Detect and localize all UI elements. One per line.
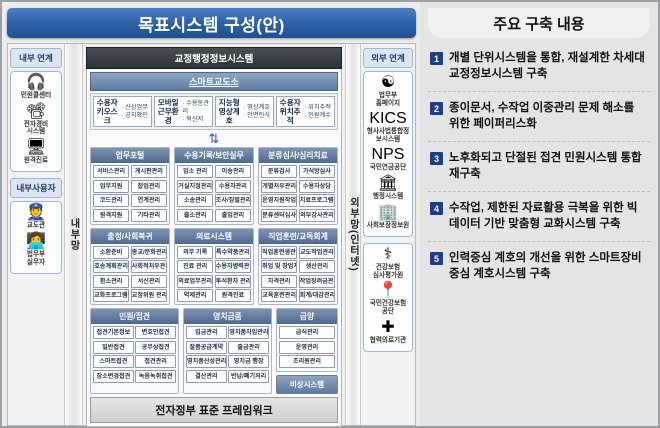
admin-system-icon: 🏛 <box>378 176 398 192</box>
module-item[interactable]: 소송관리 <box>177 194 213 207</box>
summary-item: 5 인력중심 계호의 개선을 위한 스마트장비 중심 계호시스템 구축 <box>428 250 650 291</box>
module-item[interactable]: 작업장려금관리 <box>299 275 335 288</box>
module-item[interactable]: 수용자상담 <box>299 180 335 193</box>
module-title: 의료시스템 <box>175 229 253 244</box>
smart-prison-cell-key: 지능형영상계호 <box>217 98 241 125</box>
module-item[interactable]: 회계/대감관리 <box>299 289 335 302</box>
list-item-label: 민원콜센터 <box>21 92 51 100</box>
list-item-label: 국민건강보험공단 <box>370 300 406 315</box>
smart-prison-title: 스마트교도소 <box>90 72 338 91</box>
external-link-caption: 외부 연계 <box>363 48 413 68</box>
module-title: 수용기록/보안실무 <box>175 148 253 163</box>
module-item[interactable]: 스마트접견 <box>93 355 134 368</box>
ministry-staff-icon: 👩‍💻 <box>26 234 46 250</box>
module-item[interactable]: 변호인접견 <box>135 326 176 339</box>
module-item[interactable]: 입소 관리 <box>177 165 213 178</box>
module-items: 소환준비종교/문화관리호송계획관리사회적처우관리환소관리서신관리교화프로그램관리… <box>91 244 169 305</box>
module-item[interactable]: 조리원관리 <box>279 355 335 368</box>
module-item[interactable]: 영치품차입관리 <box>228 326 269 339</box>
module-item[interactable]: 업무지원 <box>93 180 129 193</box>
module-item[interactable]: 녹음녹취접견 <box>135 370 176 383</box>
module-card[interactable]: 분류심사/심리치료 분류검사가석방심사개별처우관리수용자상담운영지원작업치료프로… <box>258 147 338 225</box>
module-items: 서비스관리게시판관리업무지원잡업관리코드관리연계관리원격지원기타관리 <box>91 163 169 224</box>
module-item[interactable]: 직업훈련생관리 <box>261 246 297 259</box>
partner-hospital-icon: ✚ <box>381 320 394 336</box>
module-item[interactable]: 원격지원 <box>93 209 129 222</box>
module-item[interactable]: 운영지원작업 <box>261 194 297 207</box>
ministry-of-justice-icon: ☯ <box>381 75 395 91</box>
summary-item-number: 3 <box>430 152 443 165</box>
module-row: 민원/접견 접견기본정보변호인접견일반접견공무상접견스마트접견접견관리장소변경접… <box>90 308 338 394</box>
module-item[interactable]: 조사/징벌관리 <box>215 194 251 207</box>
module-item[interactable]: 환소관리 <box>93 275 129 288</box>
external-group-a: ☯ 법무부홈페이지 KICS 형사사법통합정보시스템 NPS 국민연금공단 🏛 … <box>363 71 413 237</box>
module-item[interactable]: 연계관리 <box>131 194 167 207</box>
summary-item-number: 2 <box>430 102 443 115</box>
national-pension-icon: NPS <box>372 147 405 163</box>
summary-item-text: 수작업, 제한된 자료활용 극복을 위한 빅데이터 기반 맞춤형 교화시스템 구… <box>449 200 648 232</box>
list-item[interactable]: 📽 전자경비시스템 <box>12 104 60 136</box>
core-title: 교정행정정보시스템 <box>86 47 342 69</box>
module-item[interactable]: 의무 기록 <box>177 246 213 259</box>
module-card[interactable]: 업무포털 서비스관리게시판관리업무지원잡업관리코드관리연계관리원격지원기타관리 <box>90 147 170 225</box>
module-item[interactable]: 가석방심사 <box>299 165 335 178</box>
module-item[interactable]: 자격관리 <box>261 275 297 288</box>
module-title: 출정/사회복귀 <box>91 229 169 244</box>
slide-root: 목표시스템 구성(안) 내부 연계 🎧 민원콜센터 📽 전자경비시스템 🖥 원격… <box>0 0 660 428</box>
module-item[interactable]: 이송관리 <box>215 165 251 178</box>
nhis-icon: 📍 <box>378 283 398 299</box>
list-item-label: 법무부홈페이지 <box>376 92 400 107</box>
module-grid: 업무포털 서비스관리게시판관리업무지원잡업관리코드관리연계관리원격지원기타관리 … <box>90 147 338 394</box>
internal-link-box: 🎧 민원콜센터 📽 전자경비시스템 🖥 원격진료 <box>10 71 62 172</box>
module-item[interactable]: 분류검사 <box>261 165 297 178</box>
list-item[interactable]: 👩‍💻 법무부실무자 <box>12 234 60 266</box>
module-title: 직업훈련/교독회계 <box>259 229 337 244</box>
module-item[interactable]: 잘품공급계약 <box>186 341 227 354</box>
external-network-label: 외부망(인터넷) <box>346 197 361 272</box>
internal-rail: 내부 연계 🎧 민원콜센터 📽 전자경비시스템 🖥 원격진료 내부사용자 👮 교… <box>8 44 64 425</box>
list-item[interactable]: NPS 국민연금공단 <box>365 147 411 172</box>
summary-item: 2 종이문서, 수작업 이중관리 문제 해소를 위한 페이퍼리스화 <box>428 100 650 142</box>
module-item[interactable]: 서비스관리 <box>93 165 129 178</box>
module-row: 출정/사회복귀 소환준비종교/문화관리호송계획관리사회적처우관리환소관리서신관리… <box>90 228 338 306</box>
diagram-panel: 목표시스템 구성(안) 내부 연계 🎧 민원콜센터 📽 전자경비시스템 🖥 원격… <box>2 2 420 426</box>
smart-prison-cell-key: 수용자위치추적 <box>278 98 302 125</box>
list-item[interactable]: ⚕ 건강보험심사평가원 <box>365 247 411 279</box>
summary-item-text: 노후화되고 단절된 접견 민원시스템 통합 재구축 <box>449 150 648 182</box>
list-item-label: 법무부실무자 <box>27 251 45 266</box>
module-item[interactable]: 게시판관리 <box>131 165 167 178</box>
module-title: 영치금품 <box>184 309 271 324</box>
module-card[interactable]: 민원/접견 접견기본정보변호인접견일반접견공무상접견스마트접견접견관리장소변경접… <box>90 308 179 394</box>
list-item-label: 협력의료기관 <box>370 337 406 345</box>
module-item[interactable]: 영치금 행장 <box>228 355 269 368</box>
summary-item-number: 5 <box>430 252 443 265</box>
module-item[interactable]: 운영관리 <box>279 341 335 354</box>
list-item[interactable]: 🏢 사회보장정보원 <box>365 205 411 230</box>
list-item[interactable]: ✚ 협력의료기관 <box>365 320 411 345</box>
module-item[interactable]: 개별처우관리 <box>261 180 297 193</box>
module-item[interactable]: 수용자병력관리 <box>215 260 251 273</box>
internal-network-label: 내부망 <box>66 218 81 251</box>
internal-link-caption: 내부 연계 <box>10 48 62 68</box>
module-item[interactable]: 수용자관리 <box>215 180 251 193</box>
module-row: 업무포털 서비스관리게시판관리업무지원잡업관리코드관리연계관리원격지원기타관리 … <box>90 147 338 225</box>
module-item[interactable]: 치료프로그램관리 <box>299 194 335 207</box>
internal-user-caption: 내부사용자 <box>10 178 62 198</box>
module-item[interactable]: 출소관리 <box>177 209 213 222</box>
smart-prison-cell[interactable]: 지능형영상계호 · 영상계호· 안면인식 <box>215 96 274 127</box>
list-item-label: 형사사법통합정보시스템 <box>365 128 411 143</box>
module-item[interactable]: 공무상접견 <box>135 341 176 354</box>
module-item[interactable]: 사회적처우관리 <box>131 260 167 273</box>
module-items: 급식관리운영관리조리원관리 <box>277 324 337 370</box>
external-rail: 외부 연계 ☯ 법무부홈페이지 KICS 형사사법통합정보시스템 NPS 국민연… <box>361 44 415 425</box>
summary-list: 1 개별 단위시스템을 통합, 재설계한 차세대 교정정보시스템 구축 2 종이… <box>428 50 650 291</box>
list-item-label: 원격진료 <box>24 157 48 165</box>
module-item[interactable]: 결산관리 <box>186 370 227 383</box>
module-items: 입금관리영치품차입관리잘품공급계약출금관리영치품산성관리영치금 행장결산관리반납… <box>184 324 271 385</box>
list-item-label: 건강보험심사평가원 <box>373 264 403 279</box>
module-item[interactable]: 호송계획관리 <box>93 260 129 273</box>
module-item[interactable]: 원격진료 <box>215 289 251 302</box>
list-item-label: 사회보장정보원 <box>367 222 409 230</box>
module-item[interactable]: 약제관리 <box>177 289 213 302</box>
electronic-security-icon: 📽 <box>26 104 46 120</box>
list-item[interactable]: KICS 형사사법통합정보시스템 <box>365 111 411 143</box>
list-item[interactable]: 👮 교도관 <box>12 205 60 230</box>
module-item[interactable]: 출금관리 <box>228 341 269 354</box>
module-items: 분류검사가석방심사개별처우관리수용자상담운영지원작업치료프로그램관리분류센터심사… <box>259 163 337 224</box>
module-item[interactable]: 급식관리 <box>279 326 335 339</box>
internal-network-band: 내부망 <box>64 44 83 425</box>
module-item[interactable]: 서신관리 <box>131 275 167 288</box>
module-item[interactable]: 접견관리 <box>135 355 176 368</box>
module-item[interactable]: 종교/문화관리 <box>131 246 167 259</box>
module-item[interactable]: 일반접견 <box>93 341 134 354</box>
smart-prison-cell[interactable]: 수용자위치추적 · 위치추적· 인원계수 <box>276 96 335 127</box>
summary-item-text: 인력중심 계호의 개선을 위한 스마트장비 중심 계호시스템 구축 <box>449 250 648 282</box>
module-item[interactable]: 특수약품관리 <box>215 246 251 259</box>
module-item[interactable]: 거실지정관리 <box>177 180 213 193</box>
prison-officer-icon: 👮 <box>26 205 46 221</box>
module-item[interactable]: 잡업관리 <box>131 180 167 193</box>
summary-title: 주요 구축 내용 <box>428 8 650 38</box>
smart-prison-row: 수용자키오스크 · 신상업무· 공지확인 모바일근무환경 · 수용동관리· 혁신… <box>90 93 338 130</box>
module-items: 직업훈련생관리교도작업관리취업 및 창업지원생산관리자격관리작업장려금관리교육훈… <box>259 244 337 305</box>
list-item-label: 국민연금공단 <box>370 164 406 172</box>
module-item[interactable]: 교정위원 관리 <box>131 289 167 302</box>
summary-item: 3 노후화되고 단절된 접견 민원시스템 통합 재구축 <box>428 150 650 192</box>
module-item[interactable]: 코드관리 <box>93 194 129 207</box>
smart-prison-cell-key: 수용자키오스크 <box>95 98 119 125</box>
list-item[interactable]: 📍 국민건강보험공단 <box>365 283 411 315</box>
module-item[interactable]: 교화프로그램관리 <box>93 289 129 302</box>
module-item[interactable]: 교육훈련관리 <box>261 289 297 302</box>
smart-prison-cell[interactable]: 모바일근무환경 · 수용동관리· 혁신저 <box>154 96 213 127</box>
module-card[interactable]: 급양 급식관리운영관리조리원관리 <box>276 308 338 372</box>
module-items: 접견기본정보변호인접견일반접견공무상접견스마트접견접견관리장소변경접견녹음녹취접… <box>91 324 178 385</box>
smart-prison-cell-values: · 위치추적· 인원계수 <box>304 104 333 120</box>
smart-prison-cell-values: · 영상계호· 안면인식 <box>243 104 272 120</box>
module-item[interactable]: 취업 및 창업지원 <box>261 260 297 273</box>
module-item[interactable]: 출입관리 <box>215 209 251 222</box>
list-item-label: 행정시스템 <box>373 193 403 201</box>
smart-prison-cell-values: · 수용동관리· 혁신저 <box>182 100 211 124</box>
list-item[interactable]: 🏛 행정시스템 <box>365 176 411 201</box>
module-card[interactable]: 영치금품 입금관리영치품차입관리잘품공급계약출금관리영치품산성관리영치금 행장결… <box>183 308 272 394</box>
module-item[interactable]: 외부강사관리 <box>299 209 335 222</box>
external-network-band: 외부망(인터넷) <box>345 44 361 425</box>
module-card[interactable]: 수용기록/보안실무 입소 관리이송관리거실지정관리수용자관리소송관리조사/징벌관… <box>174 147 254 225</box>
module-item[interactable]: 반납/폐기처리 <box>228 370 269 383</box>
module-card[interactable]: 출정/사회복귀 소환준비종교/문화관리호송계획관리사회적처우관리환소관리서신관리… <box>90 228 170 306</box>
module-items: 의무 기록특수약품관리진료 관리수용자병력관리의료업무관리투석환자 관리약제관리… <box>175 244 253 305</box>
summary-item-text: 개별 단위시스템을 통합, 재설계한 차세대 교정정보시스템 구축 <box>449 50 648 82</box>
telemedicine-icon: 🖥 <box>26 140 46 156</box>
smart-prison-cell[interactable]: 수용자키오스크 · 신상업무· 공지확인 <box>93 96 152 127</box>
module-item[interactable]: 진료 관리 <box>177 260 213 273</box>
module-side-stack: 급양 급식관리운영관리조리원관리 비상시스템 <box>276 308 338 394</box>
smart-prison-cell-values: · 신상업무· 공지확인 <box>121 104 150 120</box>
module-item[interactable]: 분류센터심사 <box>261 209 297 222</box>
flow-arrow-icon: ⇅ <box>90 132 338 145</box>
social-security-info-icon: 🏢 <box>378 205 398 221</box>
module-title: 분류심사/심리치료 <box>259 148 337 163</box>
call-center-icon: 🎧 <box>26 75 46 91</box>
list-item-label: 전자경비시스템 <box>24 121 48 136</box>
summary-item-text: 종이문서, 수작업 이중관리 문제 해소를 위한 페이퍼리스화 <box>449 100 648 132</box>
module-item[interactable]: 접견기본정보 <box>93 326 134 339</box>
module-items: 입소 관리이송관리거실지정관리수용자관리소송관리조사/징벌관리출소관리출입관리 <box>175 163 253 224</box>
kics-icon: KICS <box>369 111 406 127</box>
module-item[interactable]: 교도작업관리 <box>299 246 335 259</box>
module-card[interactable]: 직업훈련/교독회계 직업훈련생관리교도작업관리취업 및 창업지원생산관리자격관리… <box>258 228 338 306</box>
summary-panel: 주요 구축 내용 1 개별 단위시스템을 통합, 재설계한 차세대 교정정보시스… <box>420 2 658 426</box>
summary-item: 1 개별 단위시스템을 통합, 재설계한 차세대 교정정보시스템 구축 <box>428 50 650 92</box>
core-body: 스마트교도소 수용자키오스크 · 신상업무· 공지확인 모바일근무환경 · 수용… <box>86 69 342 427</box>
list-item[interactable]: ☯ 법무부홈페이지 <box>365 75 411 107</box>
module-card[interactable]: 의료시스템 의무 기록특수약품관리진료 관리수용자병력관리의료업무관리투석환자 … <box>174 228 254 306</box>
module-item[interactable]: 입금관리 <box>186 326 227 339</box>
list-item[interactable]: 🖥 원격진료 <box>12 140 60 165</box>
module-title: 급양 <box>277 309 337 324</box>
framework-bar: 전자정부 표준 프레임워크 <box>90 397 338 423</box>
internal-user-box: 👮 교도관 👩‍💻 법무부실무자 <box>10 201 62 274</box>
module-title: 민원/접견 <box>91 309 178 324</box>
module-item[interactable]: 영치품산성관리 <box>186 355 227 368</box>
module-item[interactable]: 투석환자 관리 <box>215 275 251 288</box>
module-item[interactable]: 생산관리 <box>299 260 335 273</box>
summary-item-number: 4 <box>430 202 443 215</box>
summary-item: 4 수작업, 제한된 자료활용 극복을 위한 빅데이터 기반 맞춤형 교화시스템… <box>428 200 650 242</box>
architecture-diagram: 내부 연계 🎧 민원콜센터 📽 전자경비시스템 🖥 원격진료 내부사용자 👮 교… <box>7 43 416 426</box>
external-group-b: ⚕ 건강보험심사평가원 📍 국민건강보험공단 ✚ 협력의료기관 <box>363 243 413 352</box>
smart-prison-cell-key: 모바일근무환경 <box>156 98 180 125</box>
emergency-system-button[interactable]: 비상시스템 <box>276 375 338 394</box>
module-item[interactable]: 기타관리 <box>131 209 167 222</box>
core-system: 교정행정정보시스템 스마트교도소 수용자키오스크 · 신상업무· 공지확인 모바… <box>83 44 345 425</box>
module-item[interactable]: 의료업무관리 <box>177 275 213 288</box>
module-item[interactable]: 장소변경접견 <box>93 370 134 383</box>
list-item-label: 교도관 <box>27 222 45 230</box>
page-title: 목표시스템 구성(안) <box>7 8 416 38</box>
list-item[interactable]: 🎧 민원콜센터 <box>12 75 60 100</box>
module-title: 업무포털 <box>91 148 169 163</box>
module-item[interactable]: 소환준비 <box>93 246 129 259</box>
hira-icon: ⚕ <box>384 247 393 263</box>
summary-item-number: 1 <box>430 52 443 65</box>
